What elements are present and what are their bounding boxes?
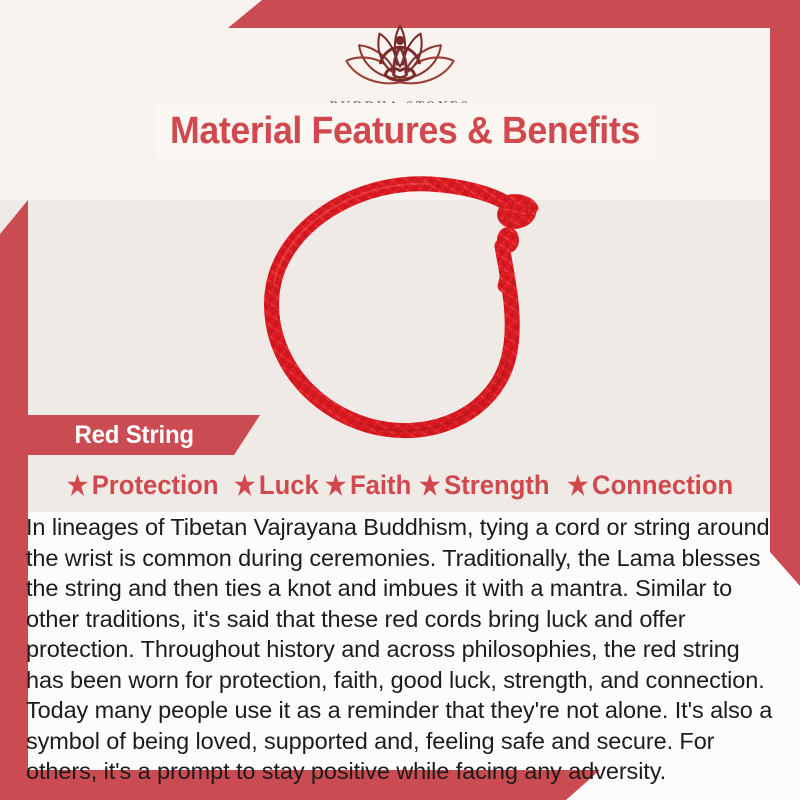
star-icon	[326, 474, 347, 496]
brand-logo: BUDDHA STONES	[0, 18, 800, 114]
section-ribbon: Red String	[20, 415, 260, 455]
benefit-item: Luck	[234, 470, 319, 501]
section-description: In lineages of Tibetan Vajrayana Buddhis…	[26, 512, 774, 787]
page-title: Material Features & Benefits	[170, 110, 640, 153]
benefit-label: Protection	[91, 470, 218, 501]
frame-bar-left-upper	[0, 200, 28, 570]
lotus-meditation-icon	[325, 18, 475, 94]
star-icon	[567, 474, 588, 496]
benefit-label: Connection	[592, 470, 733, 501]
benefits-row: Protection Luck Faith Strength Connectio…	[28, 463, 772, 507]
benefit-item: Connection	[567, 470, 733, 501]
page-title-band: Material Features & Benefits	[155, 103, 655, 159]
benefit-item: Strength	[419, 470, 549, 501]
frame-bar-left-lower	[0, 560, 28, 800]
benefit-item: Faith	[326, 470, 412, 501]
benefit-item: Protection	[67, 470, 219, 501]
benefit-label: Faith	[350, 470, 411, 501]
star-icon	[67, 474, 88, 496]
section-ribbon-label: Red String	[74, 421, 193, 450]
star-icon	[419, 474, 440, 496]
infographic-page: BUDDHA STONES Material Features & Benefi…	[0, 0, 800, 800]
benefit-label: Luck	[259, 470, 319, 501]
benefit-label: Strength	[444, 470, 549, 501]
product-image	[240, 160, 580, 452]
star-icon	[234, 474, 255, 496]
